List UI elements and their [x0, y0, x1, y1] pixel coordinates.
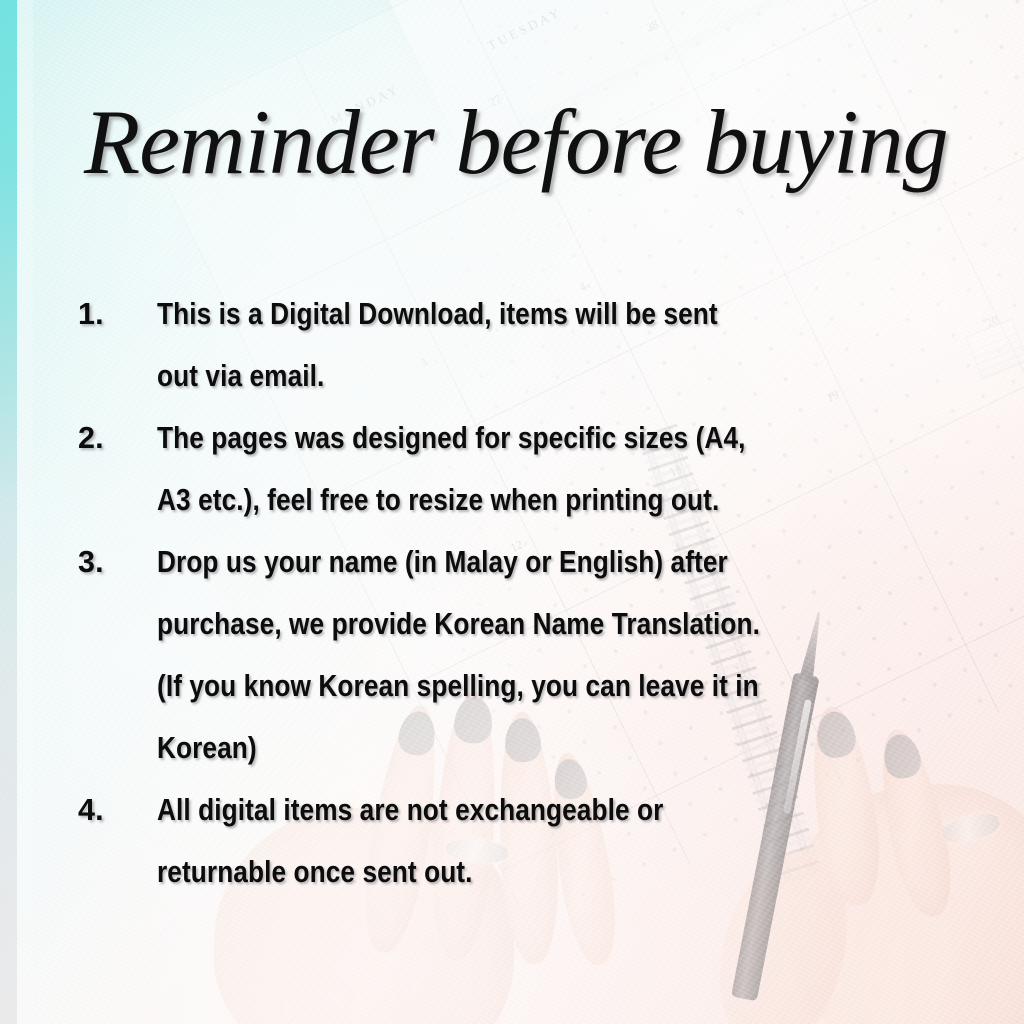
list-item-line: All digital items are not exchangeable o… [157, 779, 663, 841]
list-item: 4. All digital items are not exchangeabl… [70, 779, 970, 903]
list-item-line: A3 etc.), feel free to resize when print… [157, 469, 719, 531]
list-item-line: The pages was designed for specific size… [157, 407, 745, 469]
list-item-number: 1. [70, 283, 157, 345]
text-content: Reminder before buying 1. This is a Digi… [0, 0, 1024, 1024]
reminder-list: 1. This is a Digital Download, items wil… [70, 283, 970, 903]
list-item: 1. This is a Digital Download, items wil… [70, 283, 970, 407]
page-title: Reminder before buying [84, 96, 984, 188]
list-item-body: All digital items are not exchangeable o… [157, 779, 970, 903]
list-item-line: out via email. [157, 345, 324, 407]
list-item-line: purchase, we provide Korean Name Transla… [157, 593, 760, 655]
list-item-body: This is a Digital Download, items will b… [157, 283, 970, 407]
list-item-number: 2. [70, 407, 157, 469]
list-item: 3. Drop us your name (in Malay or Englis… [70, 531, 970, 779]
list-item-line: returnable once sent out. [157, 841, 473, 903]
list-item: 2. The pages was designed for specific s… [70, 407, 970, 531]
list-item-line: Drop us your name (in Malay or English) … [157, 531, 728, 593]
list-item-line: (If you know Korean spelling, you can le… [157, 655, 759, 717]
list-item-line: This is a Digital Download, items will b… [157, 283, 718, 345]
list-item-number: 4. [70, 779, 157, 841]
reminder-graphic: JULY 2017 MONDAY TUESDAY WEDNESDAY THURS… [0, 0, 1024, 1024]
list-item-body: Drop us your name (in Malay or English) … [157, 531, 970, 779]
list-item-body: The pages was designed for specific size… [157, 407, 970, 531]
list-item-line: Korean) [157, 717, 257, 779]
list-item-number: 3. [70, 531, 157, 593]
